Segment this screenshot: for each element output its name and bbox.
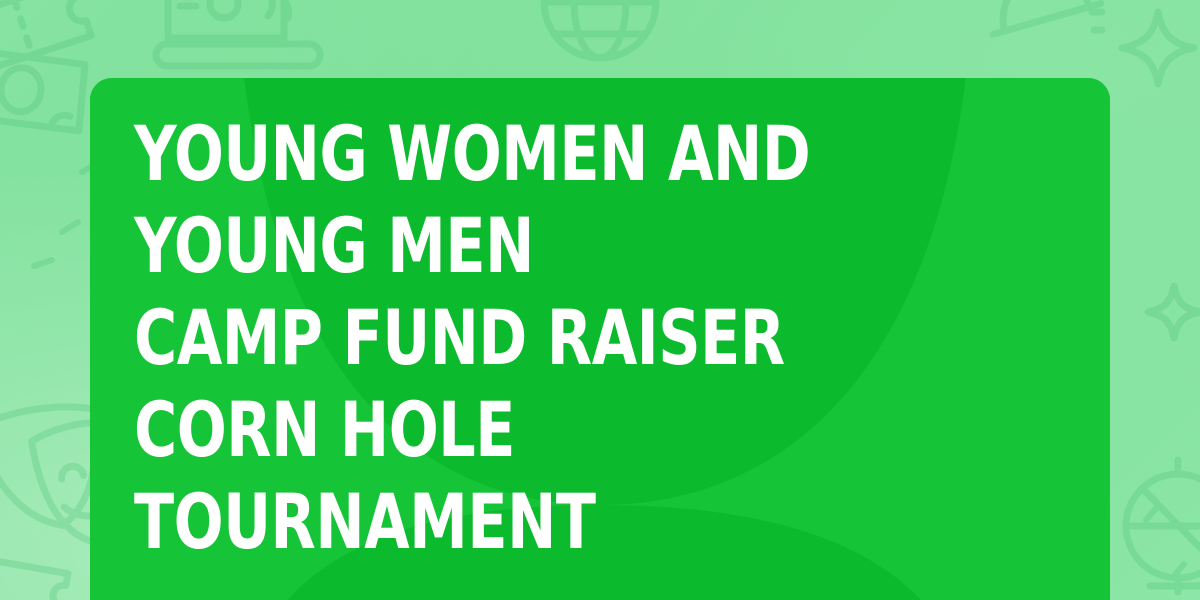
event-title: YOUNG WOMEN AND YOUNG MEN CAMP FUND RAIS… <box>134 108 944 568</box>
event-banner-page: YOUNG WOMEN AND YOUNG MEN CAMP FUND RAIS… <box>0 0 1200 600</box>
globe-icon <box>544 0 656 58</box>
sparkle-icon <box>1148 286 1200 338</box>
ticket-icon <box>0 557 68 600</box>
event-card-content: YOUNG WOMEN AND YOUNG MEN CAMP FUND RAIS… <box>134 108 1076 600</box>
lantern-icon <box>1126 460 1200 592</box>
confetti-icon <box>268 0 273 16</box>
confetti-icon <box>34 164 96 266</box>
event-card[interactable]: YOUNG WOMEN AND YOUNG MEN CAMP FUND RAIS… <box>90 78 1110 600</box>
sparkle-icon <box>1122 12 1194 84</box>
projector-icon <box>156 0 320 66</box>
confetti-icon <box>1092 12 1102 30</box>
